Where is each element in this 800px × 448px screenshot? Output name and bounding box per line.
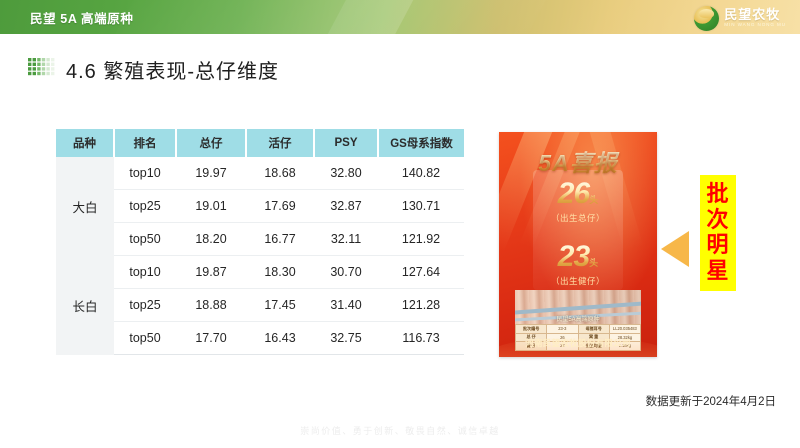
total-born-cell: 18.20	[176, 223, 246, 256]
mini-key: 批次编号	[516, 325, 547, 334]
poster-metric-healthy-born-value: 23	[558, 240, 589, 273]
table-row: 批次编号 23-3 母猪耳号 LL20.035483	[516, 325, 641, 334]
total-born-cell: 19.87	[176, 256, 246, 289]
psy-cell: 32.75	[314, 322, 378, 355]
born-alive-cell: 16.77	[246, 223, 314, 256]
rank-cell: top25	[114, 190, 176, 223]
slide-title-row: 4.6 繁殖表现-总仔维度	[28, 55, 279, 84]
banner-title: 民望 5A 高端原种	[30, 8, 133, 27]
total-born-cell: 17.70	[176, 322, 246, 355]
column-header-rank: 排名	[114, 129, 176, 157]
total-born-cell: 19.01	[176, 190, 246, 223]
poster-metric-total-born-unit: 头	[589, 195, 598, 205]
table-row: top50 18.20 16.77 32.11 121.92	[56, 223, 464, 256]
page-title: 4.6 繁殖表现-总仔维度	[66, 55, 279, 84]
batch-star-callout: 批次明星	[700, 175, 736, 291]
mini-key: 母猪耳号	[578, 325, 609, 334]
poster-metric-total-born-label: （出生总仔）	[499, 212, 657, 224]
psy-cell: 32.80	[314, 157, 378, 190]
poster-company-name: 河南民望农牧股份有限公司	[499, 337, 657, 349]
company-logo-text: 民望农牧 MIN WANG NONG MU	[724, 8, 786, 28]
breed-cell-landrace: 长白	[56, 256, 114, 355]
table-header-row: 品种 排名 总仔 活仔 PSY GS母系指数	[56, 129, 464, 157]
top-banner: 民望 5A 高端原种 民望农牧 MIN WANG NONG MU	[0, 0, 800, 34]
mini-value: 23-3	[547, 325, 578, 334]
rank-cell: top50	[114, 322, 176, 355]
psy-cell: 31.40	[314, 289, 378, 322]
column-header-total-born: 总仔	[176, 129, 246, 157]
born-alive-cell: 18.30	[246, 256, 314, 289]
column-header-gs-index: GS母系指数	[378, 129, 464, 157]
poster-metric-healthy-born-unit: 头	[589, 258, 598, 268]
table-row: top50 17.70 16.43 32.75 116.73	[56, 322, 464, 355]
table-row: top25 18.88 17.45 31.40 121.28	[56, 289, 464, 322]
rank-cell: top25	[114, 289, 176, 322]
column-header-psy: PSY	[314, 129, 378, 157]
born-alive-cell: 17.45	[246, 289, 314, 322]
gs-index-cell: 116.73	[378, 322, 464, 355]
poster-metric-healthy-born-label: （出生健仔）	[499, 275, 657, 287]
total-born-cell: 18.88	[176, 289, 246, 322]
pointer-arrow-icon	[661, 231, 689, 267]
company-logo-name-cn: 民望农牧	[724, 8, 786, 21]
poster-metric-healthy-born: 23头	[499, 242, 657, 272]
company-logo-name-en: MIN WANG NONG MU	[724, 23, 786, 28]
column-header-breed: 品种	[56, 129, 114, 157]
table-row: 长白 top10 19.87 18.30 30.70 127.64	[56, 256, 464, 289]
gs-index-cell: 140.82	[378, 157, 464, 190]
photo-caption: 民望5A高端原种	[515, 314, 641, 323]
dot-grid-icon	[28, 58, 58, 82]
rank-cell: top50	[114, 223, 176, 256]
gs-index-cell: 130.71	[378, 190, 464, 223]
poster-title: 5A喜报	[499, 144, 657, 178]
psy-cell: 30.70	[314, 256, 378, 289]
footer-slogan: 崇尚价值、勇于创新、敬畏自然、诚信卓越	[0, 424, 800, 437]
mini-value: LL20.035483	[609, 325, 640, 334]
born-alive-cell: 17.69	[246, 190, 314, 223]
table-row: top25 19.01 17.69 32.87 130.71	[56, 190, 464, 223]
piglet-photo: 民望5A高端原种	[515, 290, 641, 324]
table-row: 大白 top10 19.97 18.68 32.80 140.82	[56, 157, 464, 190]
rank-cell: top10	[114, 157, 176, 190]
rank-cell: top10	[114, 256, 176, 289]
company-logo-icon	[694, 6, 719, 31]
psy-cell: 32.87	[314, 190, 378, 223]
poster-metric-total-born: 26头	[499, 179, 657, 209]
company-logo: 民望农牧 MIN WANG NONG MU	[694, 4, 786, 32]
poster-metric-total-born-value: 26	[558, 177, 589, 210]
data-update-note: 数据更新于2024年4月2日	[646, 393, 776, 409]
column-header-born-alive: 活仔	[246, 129, 314, 157]
total-born-cell: 19.97	[176, 157, 246, 190]
gs-index-cell: 127.64	[378, 256, 464, 289]
achievement-poster: 5A喜报 26头 （出生总仔） 23头 （出生健仔） 民望5A高端原种 批次编号…	[499, 132, 657, 357]
gs-index-cell: 121.28	[378, 289, 464, 322]
born-alive-cell: 16.43	[246, 322, 314, 355]
breed-cell-large-white: 大白	[56, 157, 114, 256]
gs-index-cell: 121.92	[378, 223, 464, 256]
psy-cell: 32.11	[314, 223, 378, 256]
born-alive-cell: 18.68	[246, 157, 314, 190]
breeding-performance-table: 品种 排名 总仔 活仔 PSY GS母系指数 大白 top10 19.97 18…	[56, 129, 464, 355]
